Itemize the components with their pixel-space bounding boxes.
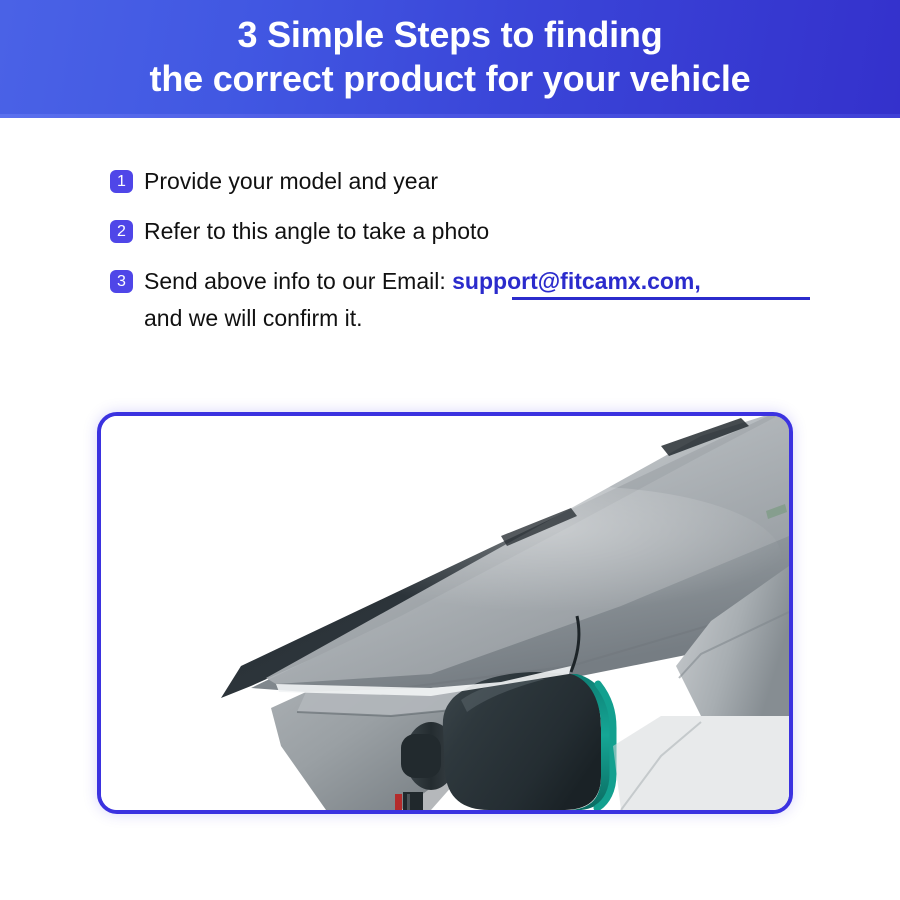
step-number-badge-1: 1 bbox=[110, 170, 133, 193]
mirror-stem bbox=[401, 734, 441, 778]
support-email-link[interactable]: support@fitcamx.com, bbox=[452, 268, 701, 294]
photo-illustration bbox=[101, 416, 789, 810]
step-text-2: Refer to this angle to take a photo bbox=[144, 216, 489, 247]
steps-list: 1 Provide your model and year 2 Refer to… bbox=[110, 166, 830, 353]
connector-block bbox=[403, 792, 423, 810]
roof-sheen bbox=[361, 486, 781, 626]
email-underline-rule bbox=[512, 297, 810, 300]
reference-photo bbox=[101, 416, 789, 810]
list-item: 3 Send above info to our Email: support@… bbox=[110, 266, 830, 334]
step-text-3: Send above info to our Email: support@fi… bbox=[144, 266, 701, 297]
list-item: 1 Provide your model and year bbox=[110, 166, 830, 197]
step-text-3-prefix: Send above info to our Email: bbox=[144, 268, 452, 294]
banner-bottom-accent bbox=[0, 114, 900, 118]
red-wire bbox=[395, 794, 402, 810]
list-item: 2 Refer to this angle to take a photo bbox=[110, 216, 830, 247]
header-banner: 3 Simple Steps to finding the correct pr… bbox=[0, 0, 900, 114]
step-number-badge-2: 2 bbox=[110, 220, 133, 243]
banner-title-line-1: 3 Simple Steps to finding bbox=[237, 13, 662, 57]
connector-pin bbox=[407, 794, 410, 810]
photo-frame bbox=[97, 412, 793, 814]
step-text-3-continuation: and we will confirm it. bbox=[144, 303, 701, 334]
lower-trim-panel bbox=[613, 716, 789, 810]
banner-title-line-2: the correct product for your vehicle bbox=[150, 57, 751, 101]
step-text-1: Provide your model and year bbox=[144, 166, 438, 197]
dashcam-body bbox=[443, 672, 601, 810]
step-number-badge-3: 3 bbox=[110, 270, 133, 293]
